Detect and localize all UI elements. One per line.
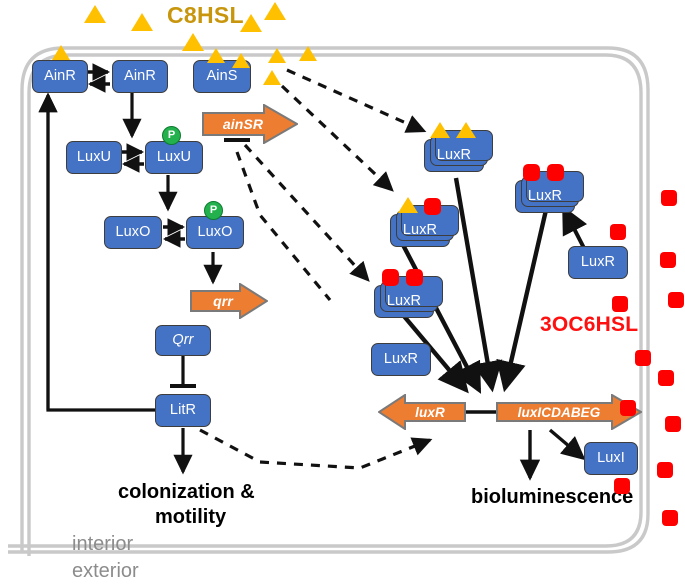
oc6hsl-square-icon: [620, 400, 636, 416]
protein-box-luxr-free-right[interactable]: LuxR: [568, 246, 628, 279]
protein-box-luxi[interactable]: LuxI: [584, 442, 638, 475]
membrane-exterior-label: exterior: [72, 560, 139, 583]
bound-3oc6hsl-icon: [382, 269, 399, 286]
c8hsl-triangle-icon: [131, 13, 153, 31]
bound-3oc6hsl-icon: [406, 269, 423, 286]
protein-label: AinS: [206, 69, 237, 84]
oc6hsl-square-icon: [668, 292, 684, 308]
bound-3oc6hsl-icon: [547, 164, 564, 181]
bound-c8hsl-icon: [430, 122, 450, 138]
oc6hsl-square-icon: [612, 296, 628, 312]
membrane-interior-label: interior: [72, 533, 133, 556]
c8hsl-triangle-icon: [232, 53, 250, 68]
protein-box-luxo-unphos[interactable]: LuxO: [104, 216, 162, 249]
phosphate-badge-luxo: P: [204, 201, 223, 220]
protein-box-luxu-phos[interactable]: LuxU: [145, 141, 203, 174]
protein-box-luxr-free-left[interactable]: LuxR: [371, 343, 431, 376]
output-bioluminescence-label: bioluminescence: [471, 486, 633, 509]
c8hsl-triangle-icon: [207, 48, 225, 63]
gene-label-luxR: luxR: [415, 405, 445, 420]
oc6hsl-square-icon: [614, 478, 630, 494]
protein-box-luxr-oc6-dimer-left[interactable]: LuxR: [374, 285, 434, 318]
output-colonization-label: colonization &: [118, 481, 255, 504]
oc6hsl-square-icon: [658, 370, 674, 386]
c8hsl-triangle-icon: [264, 2, 286, 20]
oc6hsl-square-icon: [610, 224, 626, 240]
bound-3oc6hsl-icon: [523, 164, 540, 181]
phosphate-symbol: P: [168, 130, 175, 141]
oc6hsl-square-icon: [662, 510, 678, 526]
oc6hsl-square-icon: [661, 190, 677, 206]
protein-label: LuxR: [437, 148, 471, 163]
protein-label: LuxR: [387, 294, 421, 309]
gene-arrow-ainSR: ainSR: [202, 104, 298, 144]
protein-label: LitR: [170, 403, 196, 418]
oc6hsl-square-icon: [660, 252, 676, 268]
c8hsl-triangle-icon: [240, 14, 262, 32]
protein-label: Qrr: [172, 333, 193, 348]
c8hsl-triangle-icon: [299, 46, 317, 61]
protein-box-qrr-rna[interactable]: Qrr: [155, 325, 211, 356]
bound-c8hsl-icon: [456, 122, 476, 138]
protein-label: LuxU: [77, 150, 111, 165]
protein-box-luxr-mixed-dimer[interactable]: LuxR: [390, 214, 450, 247]
protein-label: LuxR: [403, 223, 437, 238]
protein-box-ainr-left[interactable]: AinR: [32, 60, 88, 93]
protein-box-luxo-phos[interactable]: LuxO: [186, 216, 244, 249]
protein-box-luxr-oc6-dimer-right[interactable]: LuxR: [515, 180, 575, 213]
oc6hsl-square-icon: [635, 350, 651, 366]
cell-membrane: [8, 48, 648, 556]
protein-box-litr[interactable]: LitR: [155, 394, 211, 427]
protein-box-luxu-unphos[interactable]: LuxU: [66, 141, 122, 174]
protein-label: LuxR: [384, 352, 418, 367]
gene-label-ainSR: ainSR: [223, 116, 263, 132]
protein-box-ainr-right[interactable]: AinR: [112, 60, 168, 93]
c8hsl-triangle-icon: [84, 5, 106, 23]
oc6hsl-square-icon: [657, 462, 673, 478]
c8hsl-triangle-icon: [263, 70, 281, 85]
oc6hsl-square-icon: [665, 416, 681, 432]
oc6hsl-label: 3OC6HSL: [540, 313, 638, 337]
c8hsl-triangle-icon: [268, 48, 286, 63]
gene-label-qrr: qrr: [213, 293, 233, 309]
protein-box-luxr-c8-dimer[interactable]: LuxR: [424, 139, 484, 172]
protein-label: LuxI: [597, 451, 625, 466]
gene-label-luxICDABEG: luxICDABEG: [518, 405, 601, 420]
protein-label: LuxU: [157, 150, 191, 165]
protein-label: AinR: [44, 69, 76, 84]
bound-3oc6hsl-icon: [424, 198, 441, 215]
phosphate-symbol: P: [210, 205, 217, 216]
output-motility-label: motility: [155, 506, 226, 529]
diagram-canvas: luxR promoter (dashed feedback) -->: [0, 0, 685, 588]
c8hsl-label: C8HSL: [167, 2, 244, 28]
c8hsl-triangle-icon: [52, 45, 70, 60]
gene-arrow-qrr: qrr: [190, 283, 268, 319]
protein-label: LuxO: [115, 225, 150, 240]
c8hsl-triangle-icon: [182, 33, 204, 51]
phosphate-badge-luxu: P: [162, 126, 181, 145]
protein-label: AinR: [124, 69, 156, 84]
protein-label: LuxR: [581, 255, 615, 270]
protein-label: LuxR: [528, 189, 562, 204]
gene-arrow-luxR: luxR: [378, 394, 466, 430]
lux-output-arrows: [530, 430, 583, 478]
bound-c8hsl-icon: [398, 197, 418, 213]
protein-label: LuxO: [197, 225, 232, 240]
